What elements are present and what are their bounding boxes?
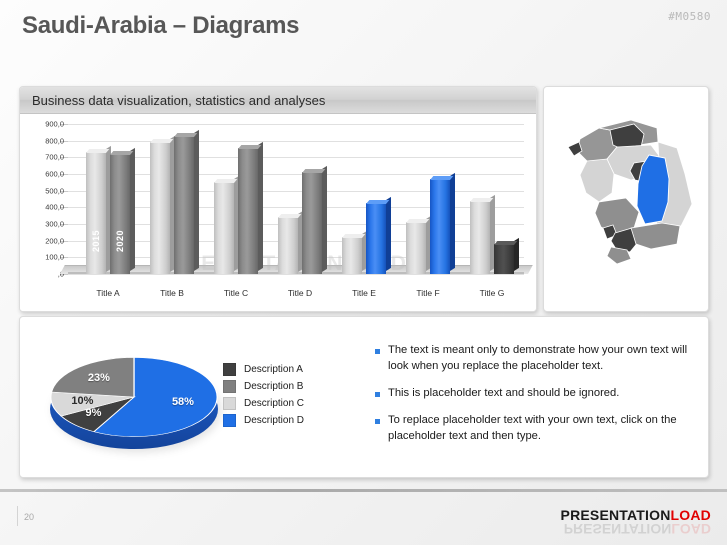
legend-label: Description D [244,415,304,426]
bullet-item[interactable]: This is placeholder text and should be i… [375,386,693,402]
y-axis-label: 400,0 [20,203,64,212]
gridline [68,274,524,275]
bar-title-d-2015[interactable] [278,217,298,275]
bar-side [194,130,199,271]
series-label-2020: 2020 [115,230,125,252]
bar-chart-panel: Business data visualization, statistics … [19,86,537,312]
legend-label: Description B [244,381,303,392]
bar-face [214,182,234,274]
chart-panel-header: Business data visualization, statistics … [20,87,536,114]
pie-label-description-b: 23% [88,372,110,384]
pie-label-description-a: 9% [86,407,102,419]
bullet-list: The text is meant only to demonstrate ho… [375,343,693,456]
bar-top [430,176,453,180]
bar-face [406,222,426,274]
legend-item-description-a[interactable]: Description A [223,361,304,378]
pie-and-text-panel: 9%23%10%58% Description ADescription BDe… [19,316,709,478]
bar-face [174,136,194,274]
bar-title-e-2020[interactable] [366,203,386,274]
bar-face [470,201,490,274]
legend-item-description-d[interactable]: Description D [223,412,304,429]
y-axis-label: 800,0 [20,136,64,145]
y-axis-label: 300,0 [20,220,64,229]
bar-top [278,214,301,218]
bar-title-a-2020[interactable]: 2020 [110,154,130,274]
bar-face [342,237,362,274]
bar-title-b-2015[interactable] [150,142,170,275]
brand-reflection-part1: PRESENTATION [564,521,672,537]
bar-top [342,234,365,238]
bullet-text: This is placeholder text and should be i… [388,386,619,402]
legend-label: Description A [244,364,303,375]
bar-top [302,169,325,173]
page-title: Saudi-Arabia – Diagrams [22,12,299,40]
bar-face [150,142,170,275]
legend-swatch [223,363,236,376]
y-axis-label: 700,0 [20,153,64,162]
bar-face [110,154,130,274]
bar-top [470,198,493,202]
pie-label-description-d: 58% [172,396,194,408]
bar-top [366,200,389,204]
series-label-2015: 2015 [91,230,101,252]
map-region-najran[interactable] [631,223,680,249]
bar-chart[interactable]: 900,0800,0700,0600,0500,0400,0300,0200,0… [20,114,537,312]
y-axis-label: 900,0 [20,120,64,129]
y-axis-label: 600,0 [20,170,64,179]
y-axis-label: 200,0 [20,236,64,245]
bar-face [430,179,450,274]
pie-legend: Description ADescription BDescription CD… [223,361,304,429]
pie-chart[interactable]: 9%23%10%58% [44,339,234,459]
footer-divider [0,489,727,492]
bar-title-c-2015[interactable] [214,182,234,274]
saudi-arabia-map[interactable] [544,87,708,311]
bar-face [302,172,322,275]
bullet-marker-icon [375,392,380,397]
document-id: #M0580 [668,10,711,23]
y-axis-label: 100,0 [20,253,64,262]
y-axis-label: ,0 [20,270,64,279]
bar-side [450,173,455,271]
bar-face [278,217,298,275]
legend-swatch [223,397,236,410]
brand-reflection-part2: LOAD [671,521,711,537]
y-axis-label: 500,0 [20,186,64,195]
bar-top [494,241,517,245]
legend-swatch [223,380,236,393]
bar-side [130,148,135,271]
bar-top [174,133,197,137]
bar-face [238,148,258,274]
map-panel [543,86,709,312]
legend-label: Description C [244,398,304,409]
bar-side [386,197,391,271]
bar-top [110,151,133,155]
x-axis-label-title-g: Title G [452,288,532,298]
bar-top [238,145,261,149]
legend-swatch [223,414,236,427]
bar-title-g-2015[interactable] [470,201,490,274]
page-number: 20 [24,512,34,522]
legend-item-description-b[interactable]: Description B [223,378,304,395]
bar-title-f-2015[interactable] [406,222,426,274]
bullet-item[interactable]: To replace placeholder text with your ow… [375,413,693,445]
bar-title-c-2020[interactable] [238,148,258,274]
bullet-text: The text is meant only to demonstrate ho… [388,343,693,375]
bar-title-g-2020[interactable] [494,244,514,274]
bar-face [494,244,514,274]
bullet-item[interactable]: The text is meant only to demonstrate ho… [375,343,693,375]
bullet-text: To replace placeholder text with your ow… [388,413,693,445]
bar-side [322,165,327,271]
bar-title-e-2015[interactable] [342,237,362,274]
bar-title-a-2015[interactable]: 2015 [86,152,106,275]
bullet-marker-icon [375,419,380,424]
bar-top [214,179,237,183]
bullet-marker-icon [375,349,380,354]
bar-title-d-2020[interactable] [302,172,322,275]
bar-face [86,152,106,275]
map-region-madinah[interactable] [580,159,614,202]
bar-side [258,142,263,271]
pie-label-description-c: 10% [71,395,93,407]
bar-top [150,139,173,143]
bar-title-f-2020[interactable] [430,179,450,274]
bar-face [366,203,386,274]
saudi-arabia-map-svg [551,99,701,299]
bar-top [406,219,429,223]
bar-top [86,149,109,153]
bar-title-b-2020[interactable] [174,136,194,274]
page-number-divider [17,506,18,526]
legend-item-description-c[interactable]: Description C [223,395,304,412]
brand-logo-reflection: PRESENTATIONLOAD [564,521,711,537]
